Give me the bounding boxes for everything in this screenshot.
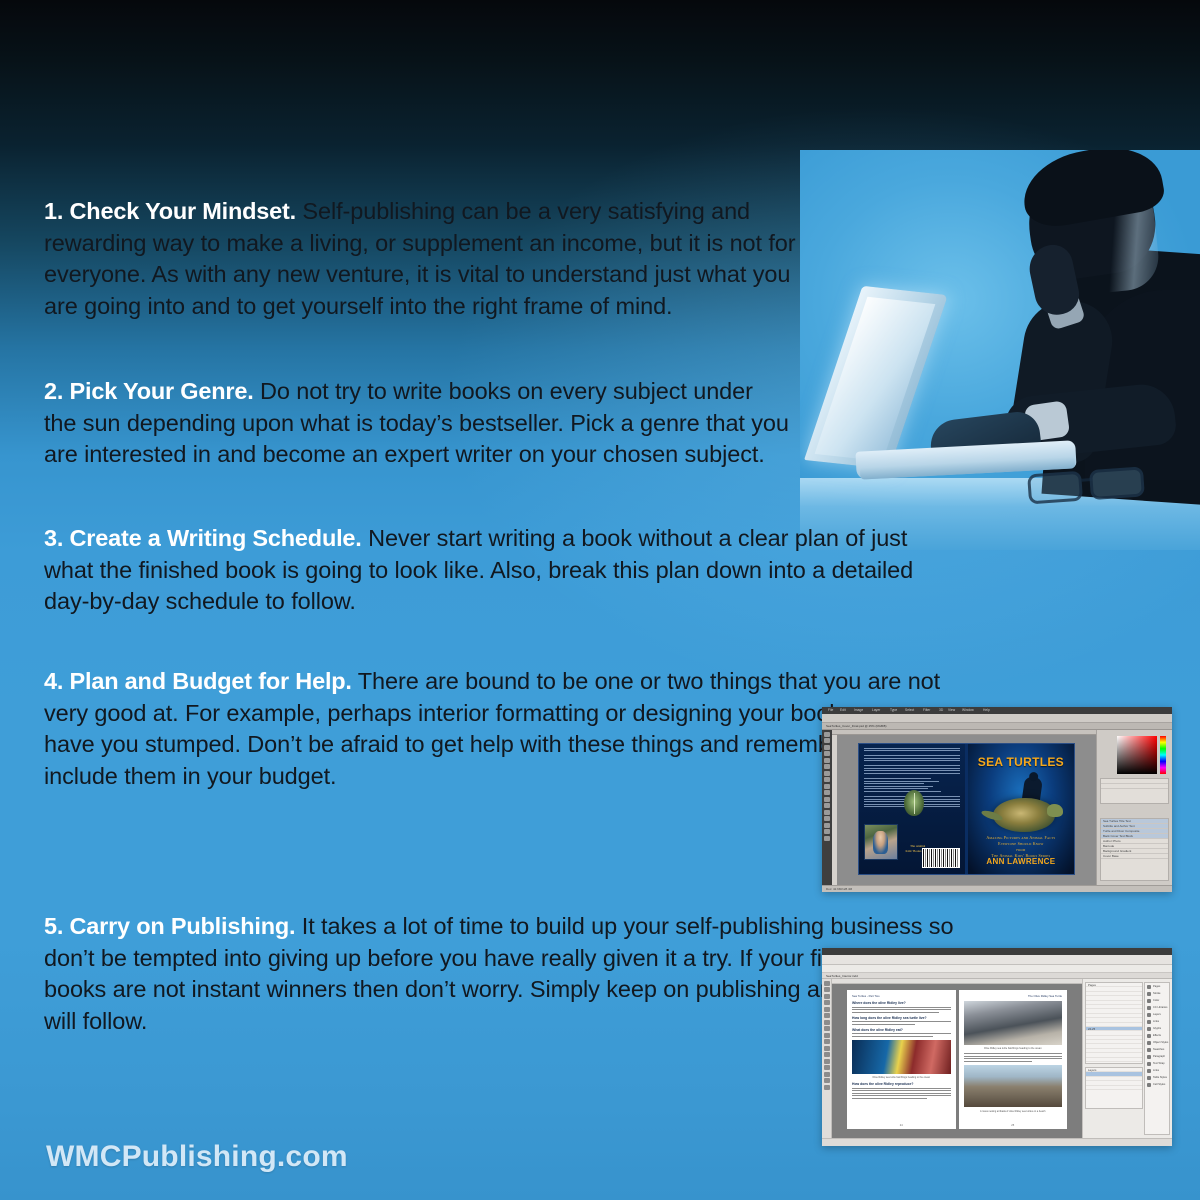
lasso-tool-icon[interactable] <box>824 745 830 750</box>
gradient-tool-icon[interactable] <box>824 797 830 802</box>
layers-panel[interactable]: Sea Turtles Title Text Subtitle and Auth… <box>1100 818 1169 881</box>
photoshop-options-bar[interactable] <box>822 714 1172 723</box>
site-url-footer: WMCPublishing.com <box>46 1140 348 1174</box>
gradient-swatch-tool-icon[interactable] <box>824 1059 830 1064</box>
indesign-interior-screenshot: SeaTurtles_Interior.indd Sea Turt <box>822 948 1172 1146</box>
pencil-tool-icon[interactable] <box>824 1026 830 1031</box>
line-tool-icon[interactable] <box>824 1013 830 1018</box>
menu-file[interactable]: File <box>828 708 833 712</box>
dock-item-cell-styles[interactable]: Cell Styles <box>1145 1081 1169 1088</box>
page-body-text <box>964 1053 1063 1062</box>
arribada-beach-photo <box>964 1065 1063 1107</box>
book-title: SEA TURTLES <box>968 755 1075 769</box>
tip-item-2: 2. Pick Your Genre. Do not try to write … <box>44 376 789 471</box>
glasses-lens-left <box>1027 471 1083 505</box>
tip-item-1: 1. Check Your Mindset. Self-publishing c… <box>44 196 804 322</box>
tip-2-text: 2. Pick Your Genre. Do not try to write … <box>44 376 789 471</box>
back-cover-paragraph-1 <box>864 748 961 752</box>
title-line-2: Self-Publishing Authors <box>0 88 1200 151</box>
page-number-right: 25 <box>959 1124 1068 1127</box>
menu-help[interactable]: Help <box>983 708 990 712</box>
menu-select[interactable]: Select <box>905 708 914 712</box>
shape-tool-icon[interactable] <box>824 823 830 828</box>
tip-1-text: 1. Check Your Mindset. Self-publishing c… <box>44 196 804 322</box>
figure-caption: A mass nesting arribada of olive Ridley … <box>964 1110 1063 1113</box>
indesign-canvas[interactable]: Sea Turtles - Part Two Where does the ol… <box>832 984 1082 1138</box>
indesign-toolbar[interactable] <box>822 979 832 1138</box>
gap-tool-icon[interactable] <box>824 1000 830 1005</box>
photoshop-toolbar[interactable] <box>822 730 832 885</box>
properties-panel-row[interactable] <box>1101 784 1168 789</box>
jellyfish-crab-photo <box>852 1040 951 1074</box>
page-tool-icon[interactable] <box>824 994 830 999</box>
type-tool-icon[interactable] <box>824 1007 830 1012</box>
stamp-tool-icon[interactable] <box>824 784 830 789</box>
indesign-menu-bar[interactable] <box>822 948 1172 955</box>
pen-tool-icon[interactable] <box>824 1020 830 1025</box>
page-left[interactable]: Sea Turtles - Part Two Where does the ol… <box>847 990 956 1129</box>
healing-tool-icon[interactable] <box>824 771 830 776</box>
layer-row[interactable]: Cover Base <box>1101 854 1168 859</box>
menu-window[interactable]: Window <box>962 708 974 712</box>
pages-panel[interactable]: Pages 24-25 <box>1085 982 1143 1064</box>
photoshop-status-bar: Doc: 42.6M/128.4M <box>822 885 1172 892</box>
title-line-1: 5 Tips for Aspiring <box>0 18 1200 78</box>
crop-tool-icon[interactable] <box>824 758 830 763</box>
dock-item-swatches[interactable]: Swatches <box>1145 1046 1169 1053</box>
barcode-icon <box>922 848 960 868</box>
photoshop-canvas[interactable]: The Animal Kids’ Books Series SEA TURTLE… <box>837 735 1096 885</box>
tip-3-heading: 3. Create a Writing Schedule. <box>44 525 362 551</box>
menu-filter[interactable]: Filter <box>923 708 930 712</box>
dock-item-effects[interactable]: Effects <box>1145 1032 1169 1039</box>
eraser-tool-icon[interactable] <box>824 790 830 795</box>
hue-slider[interactable] <box>1160 736 1166 774</box>
menu-image[interactable]: Image <box>854 708 863 712</box>
panel-icon-dock[interactable]: Pages Stroke Color CC Libraries Layers L… <box>1144 982 1170 1135</box>
tip-5-heading: 5. Carry on Publishing. <box>44 913 295 939</box>
move-tool-icon[interactable] <box>824 732 830 737</box>
type-tool-icon[interactable] <box>824 816 830 821</box>
photoshop-cover-screenshot: File Edit Image Layer Type Select Filter… <box>822 707 1172 892</box>
book-front-cover: SEA TURTLES Amazing Pictures and Animal … <box>968 744 1075 874</box>
indesign-control-bar-secondary[interactable] <box>822 965 1172 973</box>
free-transform-tool-icon[interactable] <box>824 1052 830 1057</box>
menu-type[interactable]: Type <box>890 708 897 712</box>
dock-item-text-wrap[interactable]: Text Wrap <box>1145 1060 1169 1067</box>
page-spread: Sea Turtles - Part Two Where does the ol… <box>847 990 1067 1129</box>
photoshop-menu-bar: File Edit Image Layer Type Select Filter… <box>822 707 1172 714</box>
businessman-laptop-photo <box>800 150 1200 550</box>
page-thumb-row[interactable] <box>1086 1058 1142 1062</box>
book-cover-artwork: The Animal Kids’ Books Series SEA TURTLE… <box>858 743 1076 875</box>
author-photo <box>864 824 898 860</box>
photoshop-panel-dock[interactable]: Sea Turtles Title Text Subtitle and Auth… <box>1096 730 1172 885</box>
dock-item-links-2[interactable]: Links <box>1145 1067 1169 1074</box>
dock-item-object-styles[interactable]: Object Styles <box>1145 1039 1169 1046</box>
photoshop-document-tab[interactable]: SeaTurtles_Cover_Final.psd @ 25% (RGB/8) <box>822 723 1172 730</box>
wand-tool-icon[interactable] <box>824 751 830 756</box>
tip-item-4: 4. Plan and Budget for Help. There are b… <box>44 666 949 792</box>
back-cover-paragraph-3 <box>864 765 961 774</box>
dock-item-links[interactable]: Links <box>1145 1018 1169 1025</box>
hand-tool-icon[interactable] <box>824 829 830 834</box>
color-picker-field[interactable] <box>1117 736 1157 774</box>
layer-row[interactable] <box>1086 1086 1142 1090</box>
dock-item-table-styles[interactable]: Table Styles <box>1145 1074 1169 1081</box>
page-heading: What does the olive Ridley eat? <box>852 1028 951 1032</box>
tip-3-text: 3. Create a Writing Schedule. Never star… <box>44 523 919 618</box>
menu-3d[interactable]: 3D <box>939 708 943 712</box>
tip-2-heading: 2. Pick Your Genre. <box>44 378 254 404</box>
olive-ridley-turtle-photo <box>964 1001 1063 1045</box>
rectangle-tool-icon[interactable] <box>824 1039 830 1044</box>
dock-item-paragraph[interactable]: Paragraph <box>1145 1053 1169 1060</box>
page-right[interactable]: The Olive Ridley Sea Turtle Olive Ridley… <box>959 990 1068 1129</box>
indesign-panel-dock[interactable]: Pages 24-25 Layers <box>1082 979 1172 1138</box>
tip-1-heading: 1. Check Your Mindset. <box>44 198 296 224</box>
infographic-poster: 5 Tips for Aspiring Self-Publishing Auth… <box>0 0 1200 1200</box>
tip-4-heading: 4. Plan and Budget for Help. <box>44 668 352 694</box>
dock-item-glyphs[interactable]: Glyphs <box>1145 1025 1169 1032</box>
eyedropper-tool-icon[interactable] <box>824 1072 830 1077</box>
marquee-tool-icon[interactable] <box>824 738 830 743</box>
page-body-text <box>852 1088 951 1099</box>
page-heading: How does the olive Ridley reproduce? <box>852 1082 951 1086</box>
selection-tool-icon[interactable] <box>824 981 830 986</box>
page-number-left: 24 <box>847 1124 956 1127</box>
page-body-text <box>852 1033 951 1037</box>
page-body-text <box>852 1007 951 1013</box>
dock-item-layers[interactable]: Layers <box>1145 1011 1169 1018</box>
dock-item-stroke[interactable]: Stroke <box>1145 990 1169 997</box>
brush-tool-icon[interactable] <box>824 777 830 782</box>
indesign-status-bar <box>822 1138 1172 1146</box>
book-subtitle-line-1: Amazing Pictures and Animal Facts <box>974 835 1068 841</box>
figure-caption: Olive Ridley sea turtle hatchlings headi… <box>852 1076 951 1079</box>
page-heading: Where does the olive Ridley live? <box>852 1001 951 1005</box>
book-author: ANN LAWRENCE <box>968 857 1075 866</box>
menu-edit[interactable]: Edit <box>840 708 846 712</box>
dock-item-pages[interactable]: Pages <box>1145 983 1169 990</box>
rectangle-frame-tool-icon[interactable] <box>824 1033 830 1038</box>
glasses-lens-right <box>1089 466 1145 500</box>
zoom-tool-icon[interactable] <box>824 836 830 841</box>
tip-item-3: 3. Create a Writing Schedule. Never star… <box>44 523 919 618</box>
figure-caption: Olive Ridley sea turtle hatchlings headi… <box>964 1047 1063 1050</box>
eyedropper-tool-icon[interactable] <box>824 764 830 769</box>
page-body-text <box>852 1021 951 1025</box>
pen-tool-icon[interactable] <box>824 810 830 815</box>
zoom-tool-icon[interactable] <box>824 1085 830 1090</box>
properties-panel[interactable] <box>1100 778 1169 804</box>
page-running-head-right: The Olive Ridley Sea Turtle <box>964 994 1063 998</box>
blur-tool-icon[interactable] <box>824 803 830 808</box>
scissors-tool-icon[interactable] <box>824 1046 830 1051</box>
indesign-control-bar-primary[interactable] <box>822 955 1172 965</box>
back-cover-paragraph-2 <box>864 755 961 761</box>
menu-layer[interactable]: Layer <box>872 708 880 712</box>
dock-item-color[interactable]: Color <box>1145 997 1169 1004</box>
book-back-cover: The Animal Kids’ Books Series <box>859 744 966 874</box>
dock-item-cc-libraries[interactable]: CC Libraries <box>1145 1004 1169 1011</box>
hand-tool-icon[interactable] <box>824 1078 830 1083</box>
page-heading: How long does the olive Ridley sea turtl… <box>852 1016 951 1020</box>
note-tool-icon[interactable] <box>824 1065 830 1070</box>
page-title: 5 Tips for Aspiring Self-Publishing Auth… <box>0 18 1200 151</box>
menu-view[interactable]: View <box>948 708 955 712</box>
direct-selection-tool-icon[interactable] <box>824 987 830 992</box>
page-running-head-left: Sea Turtles - Part Two <box>852 994 951 998</box>
tip-4-text: 4. Plan and Budget for Help. There are b… <box>44 666 949 792</box>
sea-turtle-image <box>993 798 1055 832</box>
layers-panel[interactable]: Layers <box>1085 1067 1143 1109</box>
back-cover-turtle-image <box>904 790 924 816</box>
book-subtitle: Amazing Pictures and Animal Facts Everyo… <box>974 835 1068 860</box>
